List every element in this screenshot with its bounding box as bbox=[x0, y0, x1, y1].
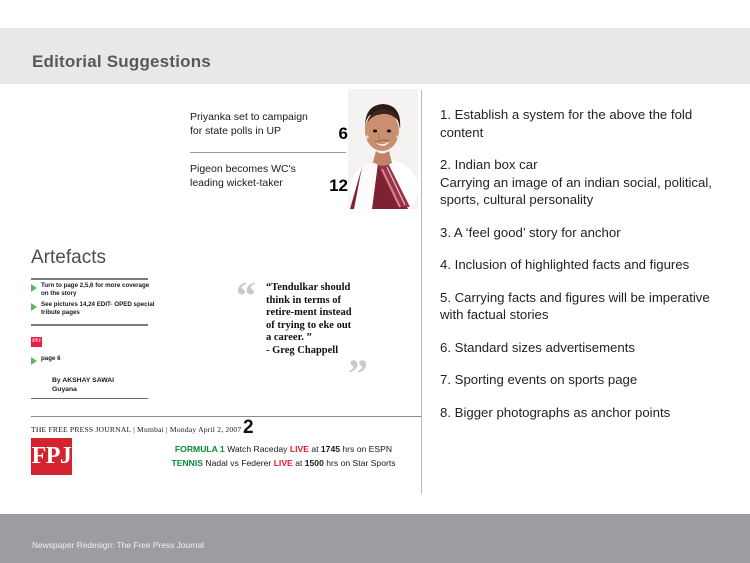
artefacts-page-ref-label: page 6 bbox=[41, 355, 61, 363]
page-title: Editorial Suggestions bbox=[32, 52, 211, 72]
footer-label: Newspaper Redesign: The Free Press Journ… bbox=[32, 540, 204, 550]
triangle-bullet-icon bbox=[31, 284, 37, 292]
ticker-sport-label: FORMULA 1 bbox=[175, 444, 225, 454]
news-teaser-page: 12 bbox=[329, 176, 348, 196]
artefacts-bullet: Turn to page 2,5,6 for more coverage on … bbox=[31, 282, 156, 299]
artefacts-bullet-label: Turn to page 2,5,6 for more coverage on … bbox=[41, 282, 156, 299]
quote-close-icon: ” bbox=[348, 362, 368, 386]
ticker-desc: Watch Raceday bbox=[227, 444, 287, 454]
artefacts-bullet: See pictures 14,24 EDIT- OPED special tr… bbox=[31, 301, 156, 318]
byline-name: By AKSHAY SAWAI bbox=[52, 376, 114, 385]
suggestion-item: 2. Indian box car Carrying an image of a… bbox=[440, 156, 730, 209]
teaser-divider bbox=[190, 152, 346, 153]
artefacts-rule-bottom bbox=[31, 324, 148, 326]
column-divider bbox=[421, 90, 422, 494]
news-teaser-item: Priyanka set to campaign for state polls… bbox=[190, 110, 350, 144]
suggestions-list: 1. Establish a system for the above the … bbox=[440, 106, 730, 436]
byline: By AKSHAY SAWAI Guyana bbox=[52, 376, 114, 394]
artefacts-heading: Artefacts bbox=[31, 247, 106, 269]
pull-quote-text: “Tendulkar should think in terms of reti… bbox=[266, 282, 356, 345]
news-teaser-block: Priyanka set to campaign for state polls… bbox=[190, 110, 350, 196]
suggestion-item: 5. Carrying facts and figures will be im… bbox=[440, 289, 730, 324]
ticker-at: at bbox=[311, 444, 318, 454]
triangle-bullet-icon bbox=[31, 357, 37, 365]
pull-quote-attribution: - Greg Chappell bbox=[266, 345, 356, 358]
ticker-live-badge: LIVE bbox=[274, 458, 293, 468]
masthead-label: THE FREE PRESS JOURNAL | Mumbai | Monday… bbox=[31, 425, 241, 434]
fpj-badge-icon: FPJ bbox=[31, 337, 42, 347]
ticker-channel: hrs on ESPN bbox=[342, 444, 392, 454]
masthead-page-number: 2 bbox=[243, 417, 254, 439]
triangle-bullet-icon bbox=[31, 303, 37, 311]
byline-rule bbox=[31, 398, 148, 399]
suggestion-item: 4. Inclusion of highlighted facts and fi… bbox=[440, 256, 730, 274]
byline-place: Guyana bbox=[52, 385, 114, 394]
suggestion-item: 8. Bigger photographs as anchor points bbox=[440, 404, 730, 422]
fpj-logo: FPJ bbox=[31, 438, 72, 475]
artefacts-bullet-list: Turn to page 2,5,6 for more coverage on … bbox=[31, 282, 156, 320]
slide-body: Priyanka set to campaign for state polls… bbox=[0, 84, 750, 514]
ticker-line: TENNIS Nadal vs Federer LIVE at 1500 hrs… bbox=[146, 456, 421, 470]
ticker-live-badge: LIVE bbox=[290, 444, 309, 454]
news-teaser-item: Pigeon becomes WC's leading wicket-taker… bbox=[190, 162, 350, 196]
news-teaser-page: 6 bbox=[339, 124, 348, 144]
pull-quote: “ “Tendulkar should think in terms of re… bbox=[244, 282, 356, 358]
quote-open-icon: “ bbox=[236, 284, 256, 308]
ticker-time: 1500 bbox=[305, 458, 324, 468]
suggestion-item: 6. Standard sizes advertisements bbox=[440, 339, 730, 357]
portrait-photo bbox=[348, 89, 418, 209]
artefacts-bullet-label: See pictures 14,24 EDIT- OPED special tr… bbox=[41, 301, 156, 318]
ticker-time: 1745 bbox=[321, 444, 340, 454]
suggestion-item: 1. Establish a system for the above the … bbox=[440, 106, 730, 141]
masthead: THE FREE PRESS JOURNAL | Mumbai | Monday… bbox=[31, 416, 421, 443]
masthead-rule bbox=[31, 416, 421, 417]
artefacts-rule-top bbox=[31, 278, 148, 280]
suggestion-item: 3. A ‘feel good’ story for anchor bbox=[440, 224, 730, 242]
ticker-desc: Nadal vs Federer bbox=[205, 458, 271, 468]
artefacts-page-ref: page 6 bbox=[31, 355, 61, 365]
ticker-sport-label: TENNIS bbox=[171, 458, 203, 468]
news-teaser-headline: Priyanka set to campaign for state polls… bbox=[190, 110, 316, 138]
news-teaser-headline: Pigeon becomes WC's leading wicket-taker bbox=[190, 162, 316, 190]
sports-ticker: FORMULA 1 Watch Raceday LIVE at 1745 hrs… bbox=[146, 442, 421, 470]
ticker-channel: hrs on Star Sports bbox=[326, 458, 395, 468]
ticker-at: at bbox=[295, 458, 302, 468]
footer-band bbox=[0, 514, 750, 563]
suggestion-item: 7. Sporting events on sports page bbox=[440, 371, 730, 389]
ticker-line: FORMULA 1 Watch Raceday LIVE at 1745 hrs… bbox=[146, 442, 421, 456]
